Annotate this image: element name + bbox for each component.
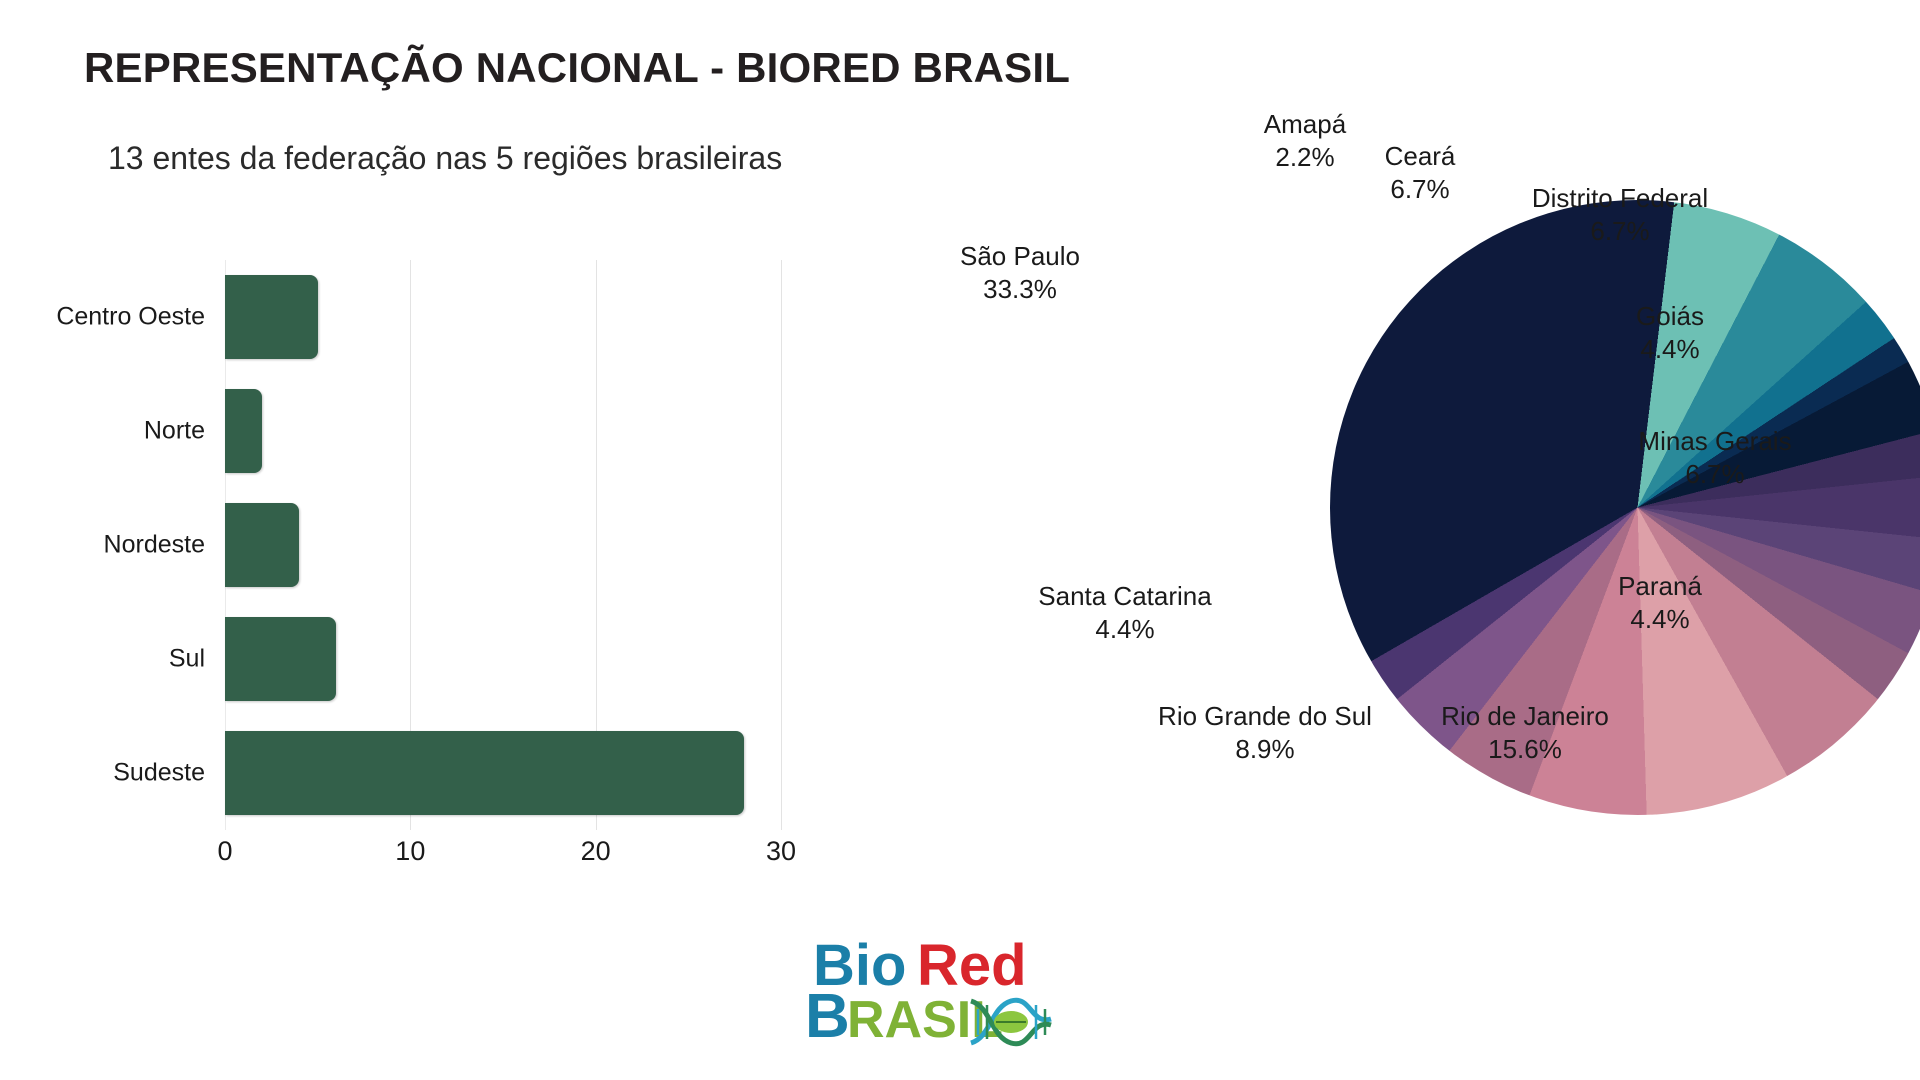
pie-chart-slice-label: Rio de Janeiro15.6% <box>1400 700 1650 767</box>
bar-chart-bar-rect <box>225 389 262 473</box>
pie-slice-percent: 6.7% <box>1330 173 1510 206</box>
pie-chart-slice-label: Santa Catarina4.4% <box>980 580 1270 647</box>
logo-b-text: B <box>805 982 850 1051</box>
pie-slice-name: Distrito Federal <box>1532 183 1708 213</box>
page-title: REPRESENTAÇÃO NACIONAL - BIORED BRASIL <box>84 44 1070 92</box>
bar-chart-bar[interactable] <box>225 275 318 359</box>
bar-chart-x-tick: 20 <box>581 836 611 867</box>
pie-slice-name: Amapá <box>1264 109 1346 139</box>
bar-chart-category-label: Sul <box>0 645 205 674</box>
pie-slice-name: Santa Catarina <box>1038 581 1211 611</box>
pie-slice-percent: 4.4% <box>1580 333 1760 366</box>
bar-chart-x-tick: 10 <box>395 836 425 867</box>
bar-chart-bar-rect <box>225 503 299 587</box>
bar-chart-bar-rect <box>225 731 744 815</box>
pie-slice-percent: 15.6% <box>1400 733 1650 766</box>
page-subtitle: 13 entes da federação nas 5 regiões bras… <box>108 140 782 177</box>
pie-slice-percent: 8.9% <box>1120 733 1410 766</box>
pie-slice-name: Minas Gerais <box>1638 426 1791 456</box>
pie-slice-name: Goiás <box>1636 301 1704 331</box>
pie-chart-slice-label: Goiás4.4% <box>1580 300 1760 367</box>
pie-chart-slice-label: Paraná4.4% <box>1570 570 1750 637</box>
pie-slice-name: Rio Grande do Sul <box>1158 701 1372 731</box>
pie-slice-percent: 4.4% <box>1570 603 1750 636</box>
pie-slice-percent: 33.3% <box>890 273 1150 306</box>
pie-slice-percent: 4.4% <box>980 613 1270 646</box>
pie-slice-name: Ceará <box>1385 141 1456 171</box>
bar-chart-bar[interactable] <box>225 389 262 473</box>
bar-chart-bar[interactable] <box>225 731 744 815</box>
bar-chart-category-label: Norte <box>0 417 205 446</box>
bar-chart-bar[interactable] <box>225 503 299 587</box>
pie-chart-slice-label: Ceará6.7% <box>1330 140 1510 207</box>
pie-slice-name: Paraná <box>1618 571 1702 601</box>
biored-brasil-logo-icon: Bio Red B RASIL <box>795 925 1065 1055</box>
bar-chart-x-tick: 0 <box>217 836 232 867</box>
bar-chart-bar-rect <box>225 617 336 701</box>
pie-chart-slice-label: Distrito Federal6.7% <box>1490 182 1750 249</box>
pie-slice-percent: 6.7% <box>1490 215 1750 248</box>
bar-chart-bar[interactable] <box>225 617 336 701</box>
pie-slice-percent: 6.7% <box>1600 458 1830 491</box>
pie-chart-slice-label: Rio Grande do Sul8.9% <box>1120 700 1410 767</box>
bar-chart-category-label: Centro Oeste <box>0 303 205 332</box>
bar-chart-category-label: Sudeste <box>0 759 205 788</box>
bar-chart-bar-rect <box>225 275 318 359</box>
bar-chart-plot-area <box>225 260 781 830</box>
pie-slice-name: São Paulo <box>960 241 1080 271</box>
biored-brasil-logo: Bio Red B RASIL <box>795 925 1065 1055</box>
bar-chart-gridline <box>781 260 782 830</box>
pie-chart-slice-label: São Paulo33.3% <box>890 240 1150 307</box>
logo-red-text: Red <box>917 933 1027 998</box>
pie-chart-slice-label: Minas Gerais6.7% <box>1600 425 1830 492</box>
bar-chart-x-tick: 30 <box>766 836 796 867</box>
bar-chart: Centro OesteNorteNordesteSulSudeste 0102… <box>0 250 820 880</box>
pie-slice-name: Rio de Janeiro <box>1441 701 1609 731</box>
pie-chart: Amapá2.2%Ceará6.7%Distrito Federal6.7%Go… <box>1020 170 1920 890</box>
bar-chart-category-label: Nordeste <box>0 531 205 560</box>
